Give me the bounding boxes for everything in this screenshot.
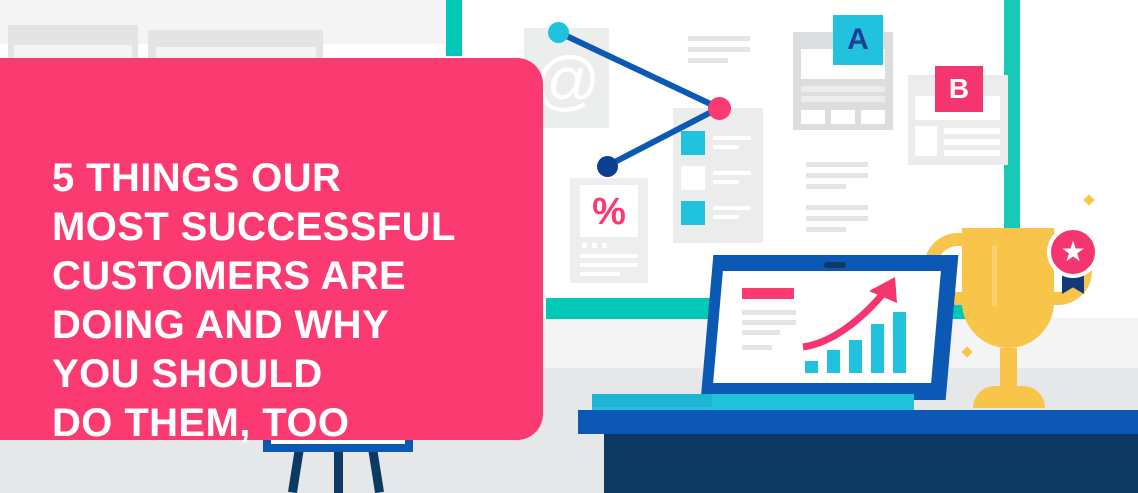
checklist-line <box>713 171 751 175</box>
checklist-line <box>713 206 751 210</box>
laptop-camera-icon <box>824 262 846 268</box>
percent-card-dot <box>602 243 607 248</box>
connector-node-navy[interactable] <box>597 156 618 177</box>
connector-node-pink[interactable] <box>708 97 731 120</box>
screen-text-line <box>742 345 772 350</box>
variant-a-card-cell <box>831 110 855 124</box>
variant-a-badge[interactable]: A <box>833 15 883 65</box>
variant-b-card-line <box>944 139 1000 145</box>
checklist-line <box>713 145 739 149</box>
variant-a-card-line <box>801 96 885 102</box>
screen-bar <box>849 340 862 373</box>
screen-title-bar <box>742 288 794 299</box>
checkbox-unchecked-icon[interactable] <box>681 166 705 190</box>
screen-bar <box>893 312 906 373</box>
laptop-keyboard-shadow <box>592 394 712 407</box>
text-line <box>688 58 728 63</box>
text-line <box>806 216 868 221</box>
percent-card-dot <box>592 243 597 248</box>
star-icon: ★ <box>1055 234 1091 270</box>
checkbox-checked-icon[interactable] <box>681 201 705 225</box>
percent-card-dot <box>582 243 587 248</box>
percent-card-line <box>580 272 620 276</box>
screen-bar <box>871 324 884 373</box>
screen-text-line <box>742 330 780 335</box>
screen-bar <box>805 361 818 373</box>
screen-bar <box>827 350 840 373</box>
desk-body <box>604 434 1138 493</box>
variant-b-card-line <box>944 128 1000 134</box>
text-line <box>806 227 846 232</box>
checklist-line <box>713 136 751 140</box>
text-line <box>806 184 846 189</box>
variant-a-card-cell <box>801 110 825 124</box>
percent-card-line <box>580 254 638 258</box>
checkbox-checked-icon[interactable] <box>681 131 705 155</box>
headline-panel: 5 THINGS OUR MOST SUCCESSFUL CUSTOMERS A… <box>0 58 543 440</box>
connector-node-cyan[interactable] <box>548 22 569 43</box>
easel-leg-center <box>334 448 343 493</box>
variant-b-card-thumb <box>915 126 937 156</box>
variant-a-card-line <box>801 86 885 92</box>
variant-b-badge[interactable]: B <box>935 66 983 112</box>
percent-card-line <box>580 263 638 267</box>
variant-a-card-cell <box>861 110 885 124</box>
text-line <box>806 173 868 178</box>
text-line <box>688 47 750 52</box>
teal-accent-vertical-left <box>446 0 462 56</box>
screen-bar-chart <box>805 305 915 373</box>
checklist-line <box>713 215 739 219</box>
screen-text-line <box>742 310 796 315</box>
page-title: 5 THINGS OUR MOST SUCCESSFUL CUSTOMERS A… <box>52 154 532 448</box>
variant-b-card-line <box>944 150 1000 156</box>
trophy-stem <box>1000 348 1017 395</box>
text-line <box>688 36 750 41</box>
desk-edge <box>578 410 1138 434</box>
text-line <box>806 162 868 167</box>
percent-icon: % <box>580 186 638 238</box>
screen-text-line <box>742 320 796 325</box>
trend-arrow-icon <box>799 273 929 383</box>
checklist-line <box>713 180 739 184</box>
banner-canvas: @ % A B <box>0 0 1138 493</box>
trophy-highlight <box>992 245 997 307</box>
trophy-cup <box>962 228 1054 348</box>
text-line <box>806 205 868 210</box>
